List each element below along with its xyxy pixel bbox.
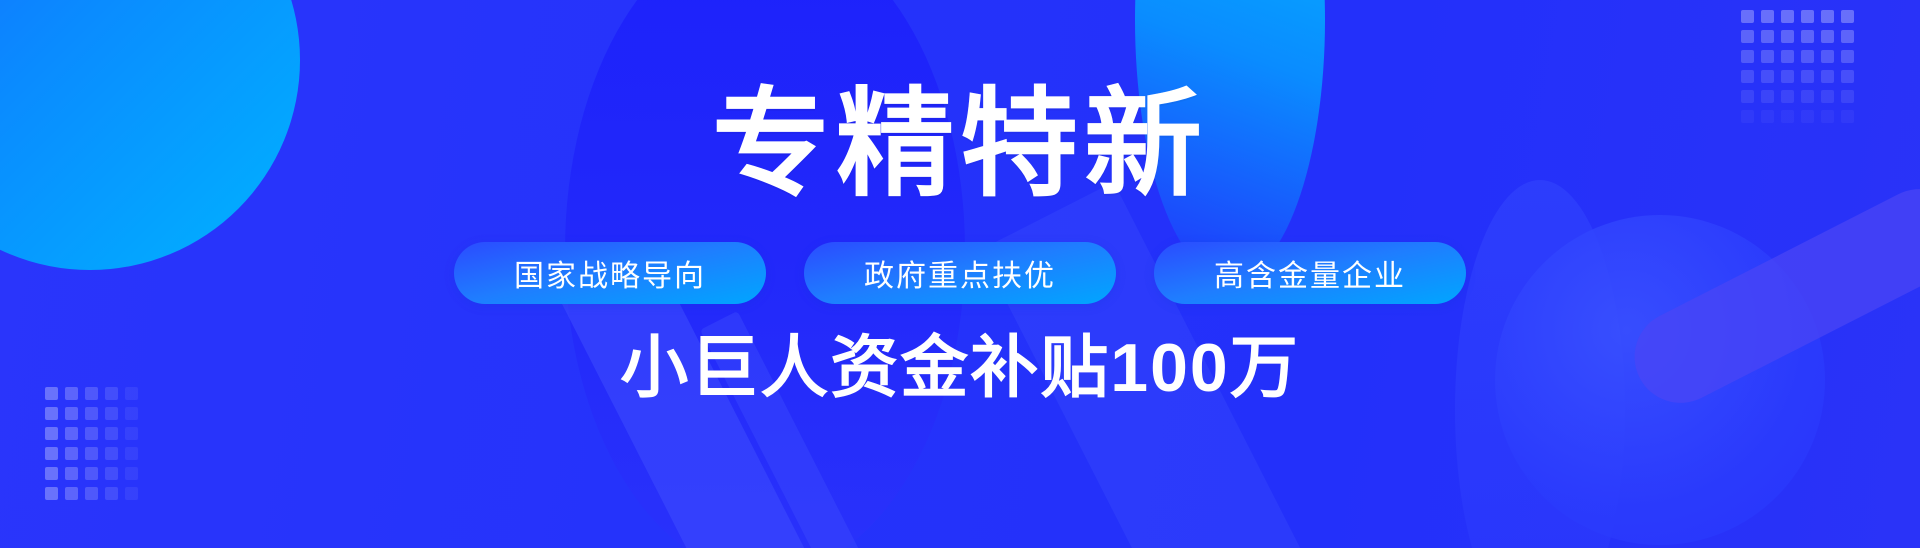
banner-headline: 专精特新: [712, 86, 1208, 204]
pill-label: 政府重点扶优: [864, 251, 1056, 295]
promo-banner: 专精特新 国家战略导向 政府重点扶优 高含金量企业 小巨人资金补贴100万: [0, 0, 1920, 548]
pill-label: 高含金量企业: [1214, 251, 1406, 295]
banner-pill-row: 国家战略导向 政府重点扶优 高含金量企业: [454, 242, 1466, 304]
pill-government-support[interactable]: 政府重点扶优: [804, 242, 1116, 304]
pill-label: 国家战略导向: [514, 251, 706, 295]
pill-national-strategy[interactable]: 国家战略导向: [454, 242, 766, 304]
pill-high-value-enterprise[interactable]: 高含金量企业: [1154, 242, 1466, 304]
banner-content: 专精特新 国家战略导向 政府重点扶优 高含金量企业 小巨人资金补贴100万: [0, 0, 1920, 548]
banner-subline: 小巨人资金补贴100万: [620, 334, 1299, 402]
